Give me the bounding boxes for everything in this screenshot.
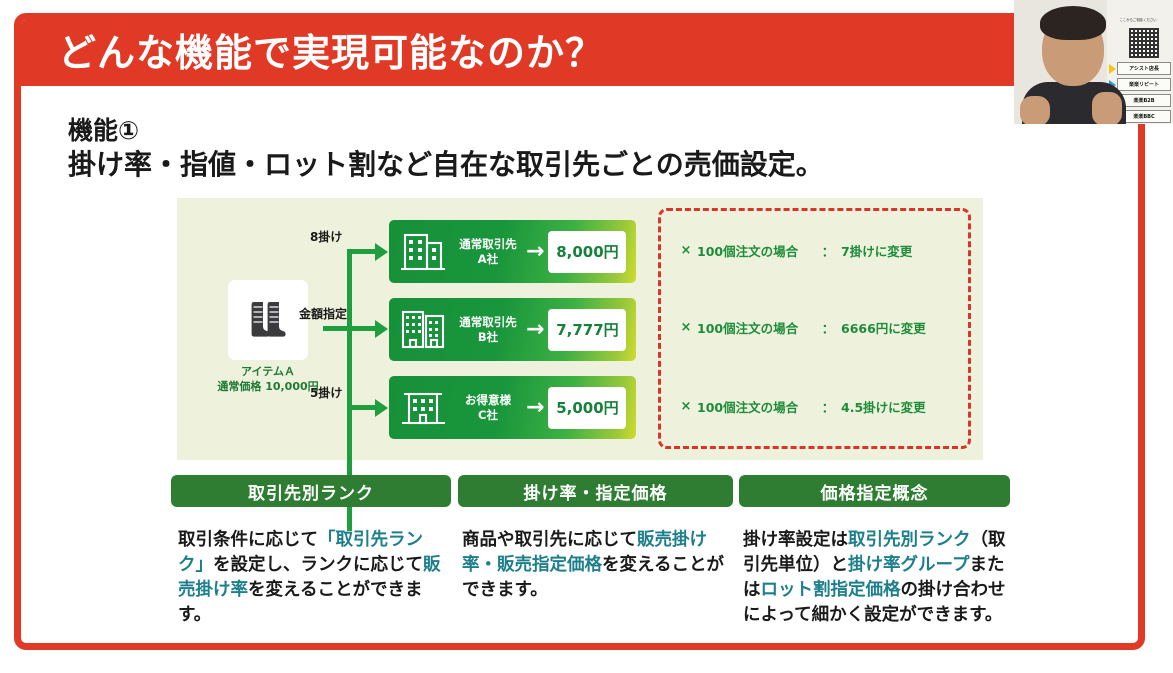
customer-name-line1: 通常取引先 — [452, 315, 524, 330]
multiply-icon: × — [675, 243, 697, 258]
description-text: を設定し、ランクに応じて — [213, 555, 423, 575]
customer-name-label: お得意様 C社 — [452, 393, 524, 423]
description-highlight: 取引先別ランク — [848, 530, 971, 550]
qr-caption: ここからご相談ください — [1111, 17, 1165, 25]
slide-title-bar: どんな機能で実現可能なのか？ — [20, 19, 1145, 86]
boots-icon — [228, 280, 308, 360]
office-building-short-icon — [398, 385, 450, 431]
price-chip: 8,000円 — [548, 231, 626, 273]
price-chip: 7,777円 — [548, 309, 626, 351]
presenter-hand-right — [1092, 92, 1122, 124]
customer-name-line2: B社 — [452, 330, 524, 345]
customer-name-label: 通常取引先 A社 — [452, 237, 524, 267]
description-customer-rank: 取引条件に応じて「取引先ランク」を設定し、ランクに応じて販売掛け率を変えることが… — [178, 528, 446, 627]
customer-name-line2: C社 — [452, 408, 524, 423]
customer-row: 通常取引先 A社 → 8,000円 — [389, 220, 636, 283]
connector-label-3: 5掛け — [310, 384, 342, 401]
connector-arrow-3 — [375, 399, 388, 417]
note-condition: 100個注文の場合 — [697, 241, 815, 260]
price-value: 7,777円 — [556, 319, 618, 340]
price-value: 8,000円 — [556, 241, 618, 262]
note-result: 6666円に変更 — [841, 318, 926, 337]
tab-customer-rank[interactable]: 取引先別ランク — [171, 475, 451, 507]
description-text: 取引条件に応じて — [178, 530, 318, 550]
description-price-concept: 掛け率設定は取引先別ランク（取引先単位）と掛け率グループまたはロット割指定価格の… — [743, 528, 1009, 627]
customer-name-line1: お得意様 — [452, 393, 524, 408]
customer-name-line2: A社 — [452, 252, 524, 267]
right-arrow-icon: → — [526, 319, 544, 341]
webcam-overlay[interactable]: ここからご相談ください アシスト店長 楽楽リピート 楽楽B2B 楽楽BBC 山本… — [1014, 0, 1173, 124]
item-price-label: 通常価格 10,000円 — [213, 380, 323, 395]
bulk-order-note: × 100個注文の場合 ： 6666円に変更 — [675, 318, 960, 337]
tab-label: 取引先別ランク — [248, 479, 374, 504]
multiply-icon: × — [675, 320, 697, 335]
pricing-diagram-panel: アイテムＡ 通常価格 10,000円 8掛け 金額指定 5掛け — [177, 198, 983, 460]
customer-name-label: 通常取引先 B社 — [452, 315, 524, 345]
bulk-order-note: × 100個注文の場合 ： 4.5掛けに変更 — [675, 397, 960, 416]
connector-label-1: 8掛け — [310, 228, 342, 245]
note-separator: ： — [815, 397, 841, 416]
whiteboard-label: 楽楽リピート — [1117, 78, 1171, 91]
description-highlight: 掛け率グループ — [848, 555, 969, 575]
tab-price-concept[interactable]: 価格指定概念 — [739, 475, 1010, 507]
qr-code-icon — [1129, 28, 1159, 58]
office-building-wide-icon — [398, 307, 450, 353]
item-block: アイテムＡ 通常価格 10,000円 — [213, 280, 323, 395]
price-value: 5,000円 — [556, 397, 618, 418]
right-arrow-icon: → — [526, 397, 544, 419]
arrow-icon — [1109, 64, 1116, 74]
bulk-order-notes-box: × 100個注文の場合 ： 7掛けに変更 × 100個注文の場合 ： 6666円… — [658, 208, 971, 449]
whiteboard-row: アシスト店長 — [1109, 62, 1171, 75]
description-rate-and-price: 商品や取引先に応じて販売掛け率・販売指定価格を変えることができます。 — [462, 528, 728, 603]
note-condition: 100個注文の場合 — [697, 397, 815, 416]
page-title: どんな機能で実現可能なのか？ — [58, 34, 604, 72]
multiply-icon: × — [675, 399, 697, 414]
bulk-order-note: × 100個注文の場合 ： 7掛けに変更 — [675, 241, 960, 260]
customer-name-line1: 通常取引先 — [452, 237, 524, 252]
note-separator: ： — [815, 318, 841, 337]
right-arrow-icon: → — [526, 241, 544, 263]
whiteboard-label: アシスト店長 — [1117, 62, 1171, 75]
price-chip: 5,000円 — [548, 387, 626, 429]
connector-label-2: 金額指定 — [299, 305, 347, 322]
description-text: 商品や取引先に応じて — [462, 530, 637, 550]
heading-block: 機能① 掛け率・指値・ロット割など自在な取引先ごとの売価設定。 — [68, 115, 824, 183]
office-building-icon — [398, 229, 450, 275]
connector-branch-3 — [347, 405, 377, 410]
note-condition: 100個注文の場合 — [697, 318, 815, 337]
tab-label: 掛け率・指定価格 — [524, 479, 668, 504]
connector-branch-2 — [347, 326, 377, 331]
presenter-hair — [1040, 6, 1106, 40]
connector-arrow-2 — [375, 320, 388, 338]
note-result: 4.5掛けに変更 — [841, 397, 926, 416]
item-name-label: アイテムＡ — [213, 365, 323, 380]
description-highlight: ロット割指定価格 — [761, 580, 901, 600]
tab-rate-and-price[interactable]: 掛け率・指定価格 — [458, 475, 733, 507]
note-separator: ： — [815, 241, 841, 260]
feature-number-heading: 機能① — [68, 115, 824, 147]
tab-label: 価格指定概念 — [821, 479, 929, 504]
slide-frame: どんな機能で実現可能なのか？ 機能① 掛け率・指値・ロット割など自在な取引先ごと… — [14, 13, 1145, 650]
connector-arrow-1 — [375, 243, 388, 261]
connector-branch-1 — [347, 249, 377, 254]
customer-row: お得意様 C社 → 5,000円 — [389, 376, 636, 439]
feature-description-heading: 掛け率・指値・ロット割など自在な取引先ごとの売価設定。 — [68, 147, 824, 183]
description-text: 掛け率設定は — [743, 530, 848, 550]
presenter-hand-left — [1020, 96, 1050, 124]
note-result: 7掛けに変更 — [841, 241, 912, 260]
customer-row: 通常取引先 B社 → 7,777円 — [389, 298, 636, 361]
